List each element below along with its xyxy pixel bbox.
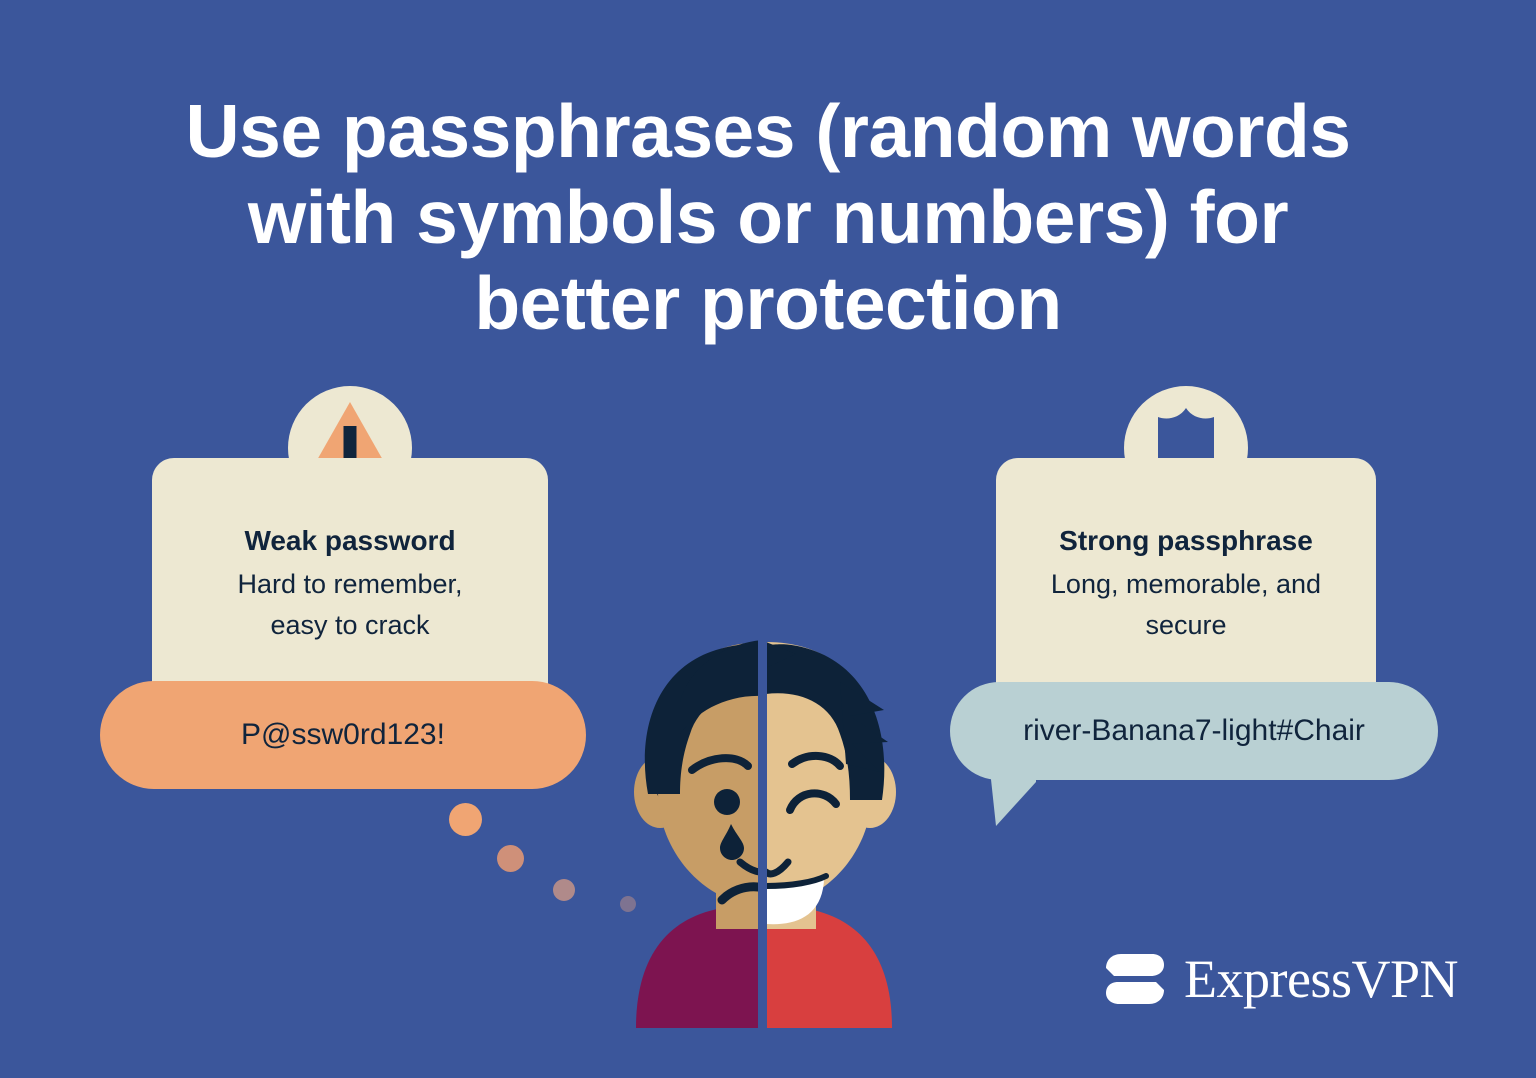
split-divider [759, 634, 767, 1028]
expressvpn-logo: ExpressVPN [1104, 948, 1458, 1010]
expressvpn-wordmark: ExpressVPN [1184, 952, 1458, 1006]
page-title: Use passphrases (random words with symbo… [168, 88, 1368, 346]
weak-card-subtext: Hard to remember, easy to crack [152, 564, 548, 646]
infographic-canvas: Use passphrases (random words with symbo… [0, 0, 1536, 1078]
strong-card-heading: Strong passphrase [996, 524, 1376, 558]
thought-dot [497, 845, 524, 872]
weak-card-heading: Weak password [152, 524, 548, 558]
strong-card-subtext: Long, memorable, and secure [996, 564, 1376, 646]
thought-dot [449, 803, 482, 836]
strong-passphrase-value: river-Banana7-light#Chair [950, 682, 1438, 780]
expressvpn-e-icon [1104, 948, 1166, 1010]
weak-password-value: P@ssw0rd123! [100, 681, 586, 789]
strong-passphrase-card: Strong passphrase Long, memorable, and s… [996, 458, 1376, 708]
speech-bubble-tail [990, 770, 1036, 826]
weak-password-card: Weak password Hard to remember, easy to … [152, 458, 548, 708]
split-face-person-illustration [540, 624, 984, 1028]
